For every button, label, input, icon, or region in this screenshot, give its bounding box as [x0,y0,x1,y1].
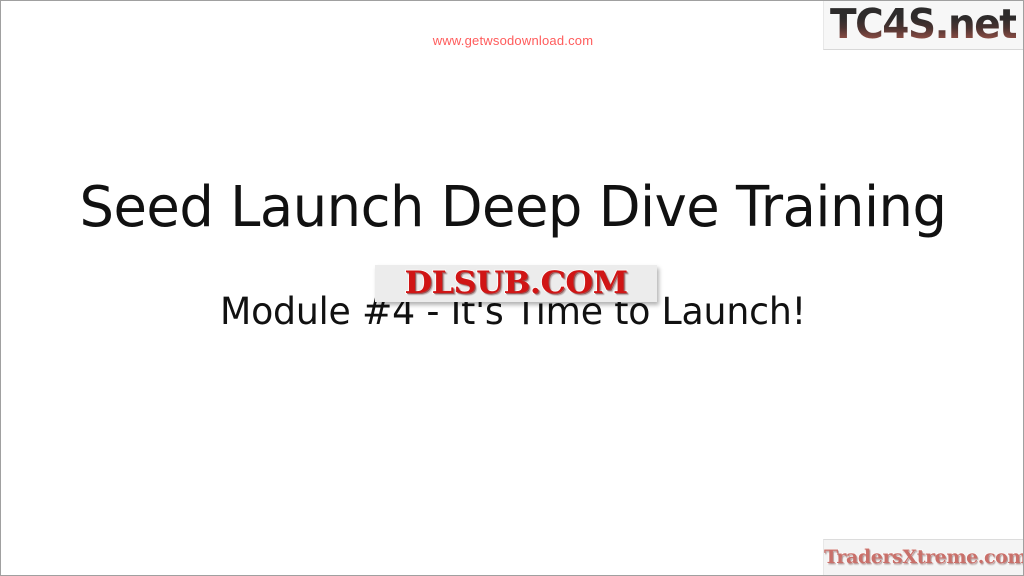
tradersxtreme-watermark-text: TradersXtreme.com [824,543,1024,571]
tradersxtreme-brand-watermark: TradersXtreme.com [823,539,1024,576]
dlsub-watermark-text: DLSUB.COM [375,266,657,301]
slide-title: Seed Launch Deep Dive Training [16,173,1009,243]
tc4s-brand-logo: TC4S.net [823,1,1024,50]
dlsub-overlay-watermark: DLSUB.COM [375,265,657,302]
tc4s-logo-text: TC4S.net [830,1,1016,48]
presentation-slide: www.getwsodownload.com TC4S.net Seed Lau… [0,0,1024,576]
